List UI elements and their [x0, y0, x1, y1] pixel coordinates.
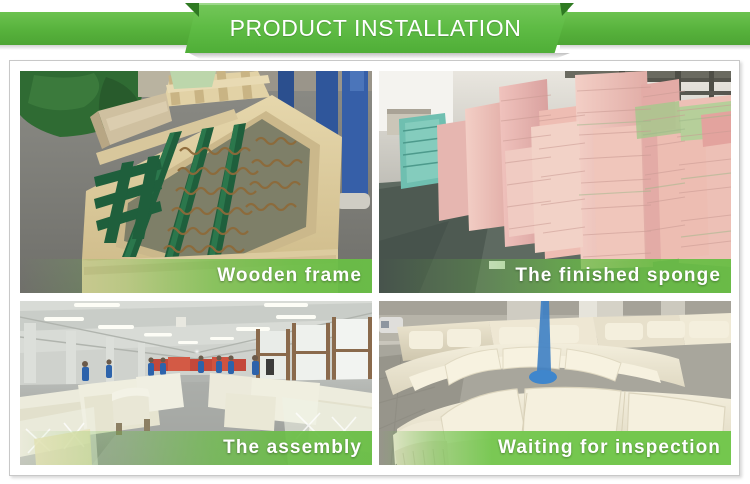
caption-label: The assembly [223, 437, 372, 459]
content-panel: Wooden frame [9, 60, 740, 476]
gallery-item-waiting-inspection[interactable]: Waiting for inspection [379, 301, 731, 465]
caption-label: The finished sponge [515, 265, 731, 287]
header-ribbon: PRODUCT INSTALLATION [185, 3, 570, 53]
page-header: PRODUCT INSTALLATION [0, 0, 750, 58]
caption-assembly: The assembly [20, 431, 372, 465]
caption-label: Waiting for inspection [498, 437, 731, 459]
gallery-item-finished-sponge[interactable]: The finished sponge [379, 71, 731, 293]
image-gallery-grid: Wooden frame [20, 71, 729, 465]
gallery-item-assembly[interactable]: The assembly [20, 301, 372, 465]
caption-finished-sponge: The finished sponge [379, 259, 731, 293]
caption-wooden-frame: Wooden frame [20, 259, 372, 293]
gallery-item-wooden-frame[interactable]: Wooden frame [20, 71, 372, 293]
header-bar-shadow-left [0, 45, 195, 50]
caption-waiting-inspection: Waiting for inspection [379, 431, 731, 465]
ribbon-drop-shadow [189, 53, 570, 59]
header-bar-shadow-right [560, 45, 750, 50]
caption-label: Wooden frame [217, 265, 372, 287]
page-title: PRODUCT INSTALLATION [230, 15, 522, 42]
